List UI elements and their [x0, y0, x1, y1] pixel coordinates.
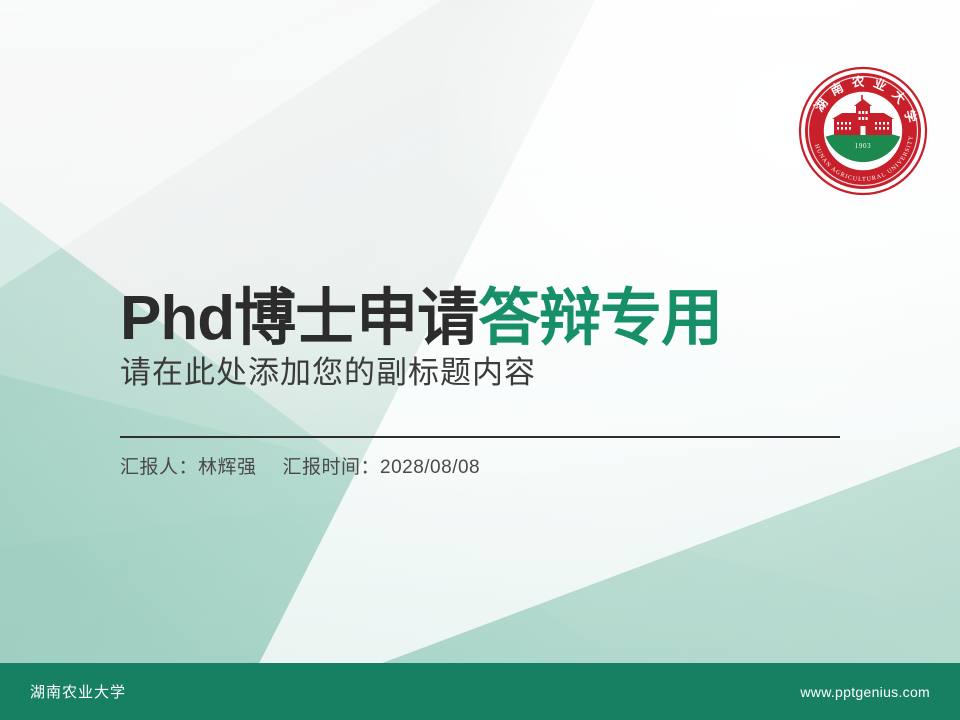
logo-founded-year: 1903: [855, 142, 871, 150]
slide-subtitle: 请在此处添加您的副标题内容: [120, 347, 536, 392]
slide-title: Phd博士申请答辩专用: [120, 286, 722, 351]
byline-presenter: 汇报人：林辉强: [120, 457, 257, 478]
slide-byline: 汇报人：林辉强汇报时间：2028/08/08: [120, 452, 480, 479]
presentation-slide: 1903 湖南农业大学 HUNAN AGRICULTURAL UNIVERSIT…: [0, 0, 960, 720]
university-logo: 1903 湖南农业大学 HUNAN AGRICULTURAL UNIVERSIT…: [796, 64, 930, 198]
slide-title-dark: Phd博士申请: [120, 284, 478, 353]
byline-date: 汇报时间：2028/08/08: [283, 457, 481, 478]
title-divider: [120, 436, 840, 438]
slide-title-accent: 答辩专用: [478, 284, 722, 353]
footer-organization: 湖南农业大学: [30, 681, 126, 702]
slide-footer: 湖南农业大学 www.pptgenius.com: [0, 663, 960, 720]
footer-website[interactable]: www.pptgenius.com: [800, 684, 930, 700]
